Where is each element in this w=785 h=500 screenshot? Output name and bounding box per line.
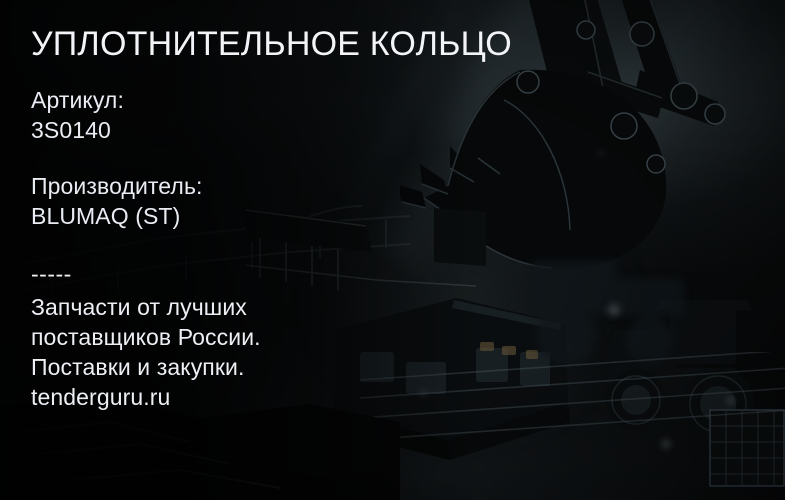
- promo-line-3: Поставки и закупки.: [31, 352, 551, 382]
- promo-line-2: поставщиков России.: [31, 322, 551, 352]
- promo-description: Запчасти от лучших поставщиков России. П…: [31, 292, 551, 412]
- product-title: УПЛОТНИТЕЛЬНОЕ КОЛЬЦО: [31, 24, 551, 64]
- product-banner: УПЛОТНИТЕЛЬНОЕ КОЛЬЦО Артикул: 3S0140 Пр…: [0, 0, 785, 500]
- promo-line-1: Запчасти от лучших: [31, 292, 551, 322]
- article-label: Артикул:: [31, 85, 551, 115]
- site-url: tenderguru.ru: [31, 382, 551, 412]
- separator-dashes: -----: [31, 264, 551, 284]
- field-manufacturer: Производитель: BLUMAQ (ST): [31, 171, 551, 231]
- manufacturer-value: BLUMAQ (ST): [31, 201, 551, 231]
- article-value: 3S0140: [31, 115, 551, 145]
- banner-text-content: УПЛОТНИТЕЛЬНОЕ КОЛЬЦО Артикул: 3S0140 Пр…: [31, 24, 551, 412]
- field-article: Артикул: 3S0140: [31, 85, 551, 145]
- manufacturer-label: Производитель:: [31, 171, 551, 201]
